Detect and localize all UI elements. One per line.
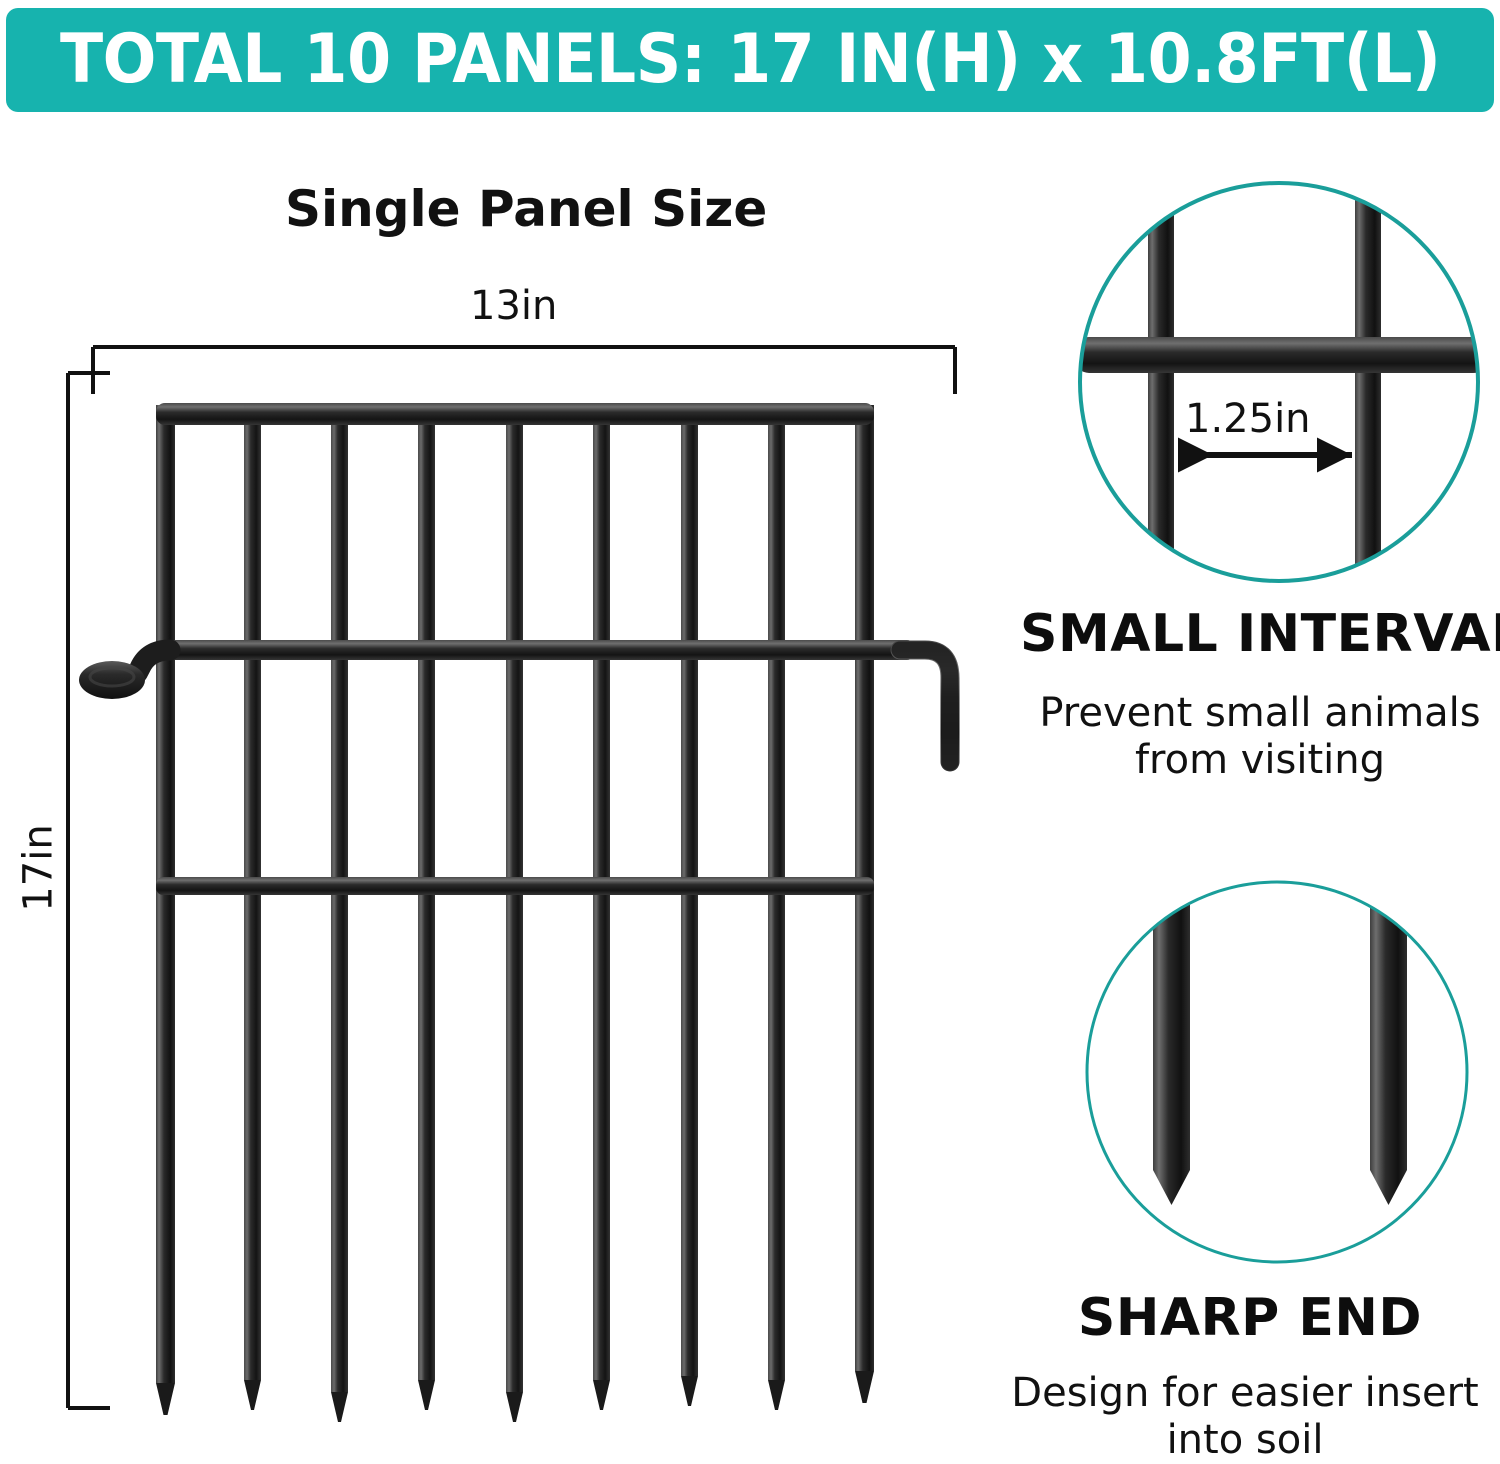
panel-bottom-rail bbox=[156, 877, 874, 895]
callout-circle-outline bbox=[1087, 882, 1467, 1262]
panel-left-loop bbox=[79, 661, 145, 699]
panel-bar bbox=[418, 418, 435, 1410]
width-dimension-bracket bbox=[93, 347, 955, 394]
width-dimension-label: 13in bbox=[470, 283, 557, 329]
panel-bar bbox=[244, 418, 261, 1410]
small-interval-callout bbox=[1075, 183, 1487, 583]
callout-circle-outline bbox=[1080, 183, 1478, 581]
panel-bar bbox=[681, 418, 698, 1406]
sharp-end-subtitle-line-2: into soil bbox=[990, 1417, 1500, 1464]
small-interval-subtitle: Prevent small animals from visiting bbox=[1020, 690, 1500, 784]
sharp-end-title: SHARP END bbox=[1000, 1288, 1500, 1348]
panel-bar bbox=[506, 418, 523, 1422]
page-title: Single Panel Size bbox=[285, 180, 767, 238]
header-banner: TOTAL 10 PANELS: 17 IN(H) x 10.8FT(L) bbox=[6, 8, 1494, 112]
callout-rail bbox=[1075, 337, 1487, 373]
callout-spike-left bbox=[1153, 880, 1190, 1205]
panel-bar bbox=[855, 405, 874, 1403]
panel-middle-rail bbox=[79, 640, 950, 762]
sharp-end-subtitle-line-1: Design for easier insert bbox=[990, 1370, 1500, 1417]
panel-right-hook bbox=[900, 650, 950, 762]
panel-vertical-bars bbox=[156, 405, 874, 1422]
small-interval-title: SMALL INTERVAL bbox=[1020, 604, 1500, 664]
sharp-end-subtitle: Design for easier insert into soil bbox=[990, 1370, 1500, 1464]
header-banner-text: TOTAL 10 PANELS: 17 IN(H) x 10.8FT(L) bbox=[60, 26, 1440, 94]
interval-measure-label: 1.25in bbox=[1185, 396, 1311, 442]
panel-left-connector bbox=[112, 650, 170, 686]
callout-spike-right bbox=[1370, 880, 1407, 1205]
fence-panel bbox=[79, 403, 950, 1422]
small-interval-subtitle-line-1: Prevent small animals bbox=[1020, 690, 1500, 737]
panel-bar bbox=[768, 418, 785, 1410]
panel-bar bbox=[156, 405, 175, 1415]
panel-bar bbox=[331, 418, 348, 1422]
sharp-end-callout bbox=[1087, 880, 1467, 1262]
panel-bar bbox=[593, 418, 610, 1410]
small-interval-subtitle-line-2: from visiting bbox=[1020, 737, 1500, 784]
panel-top-rail bbox=[156, 403, 874, 425]
height-dimension-bracket bbox=[68, 373, 110, 1408]
callout-bar-left bbox=[1148, 183, 1174, 583]
callout-bar-right bbox=[1355, 183, 1381, 583]
height-dimension-label: 17in bbox=[16, 824, 62, 911]
